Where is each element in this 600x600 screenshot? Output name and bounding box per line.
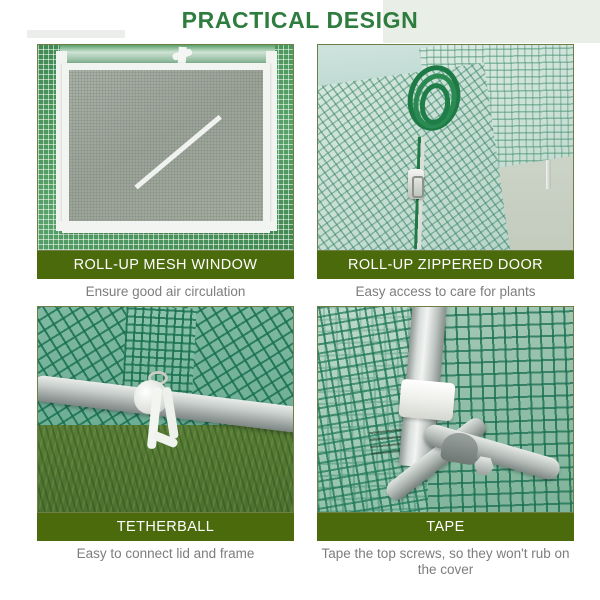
feature-card-roll-up-mesh-window[interactable]: ROLL-UP MESH WINDOW Ensure good air circ…: [37, 44, 294, 300]
rolled-door-coil-graphic: [406, 63, 468, 149]
card-caption-tetherball: Easy to connect lid and frame: [37, 541, 294, 562]
card-label-tetherball: TETHERBALL: [37, 513, 294, 541]
photo-tape: [317, 306, 574, 513]
white-tape-wrap-graphic: [398, 379, 455, 422]
feature-card-roll-up-zippered-door[interactable]: ROLL-UP ZIPPERED DOOR Easy access to car…: [317, 44, 574, 300]
zipper-pull-graphic: [408, 169, 424, 199]
window-strap-bottom-graphic: [56, 221, 277, 231]
feature-card-tape[interactable]: TAPE Tape the top screws, so they won't …: [317, 306, 574, 578]
photo-tetherball: [37, 306, 294, 513]
feature-card-tetherball[interactable]: TETHERBALL Easy to connect lid and frame: [37, 306, 294, 562]
photo-roll-up-mesh-window: [37, 44, 294, 251]
card-label-roll-up-zippered-door: ROLL-UP ZIPPERED DOOR: [317, 251, 574, 279]
card-label-roll-up-mesh-window: ROLL-UP MESH WINDOW: [37, 251, 294, 279]
page-header: PRACTICAL DESIGN: [0, 0, 600, 44]
card-label-tape: TAPE: [317, 513, 574, 541]
photo-roll-up-zippered-door: [317, 44, 574, 251]
card-caption-roll-up-mesh-window: Ensure good air circulation: [37, 279, 294, 300]
feature-card-grid: ROLL-UP MESH WINDOW Ensure good air circ…: [0, 44, 600, 600]
mesh-window-panel-graphic: [62, 63, 270, 233]
card-caption-roll-up-zippered-door: Easy access to care for plants: [317, 279, 574, 300]
page-title: PRACTICAL DESIGN: [0, 7, 600, 34]
card-caption-tape: Tape the top screws, so they won't rub o…: [317, 541, 574, 578]
